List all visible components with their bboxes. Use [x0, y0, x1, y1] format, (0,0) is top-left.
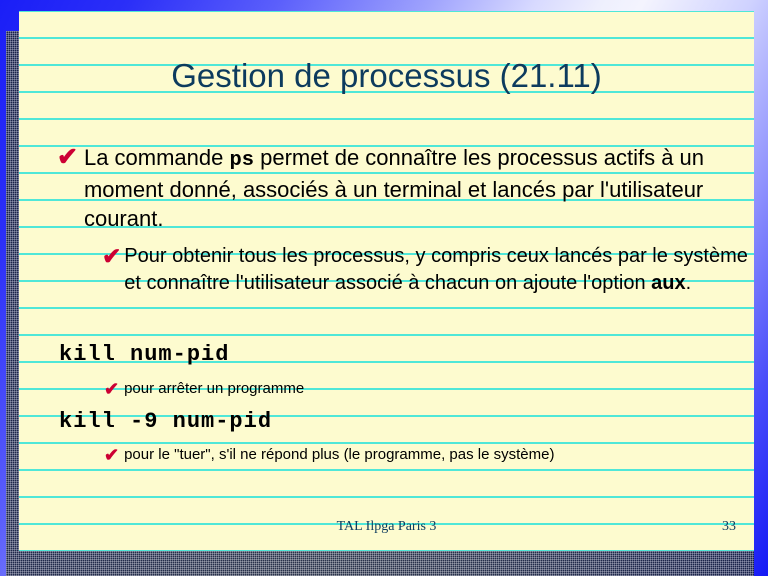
bullet-text-segment: . — [686, 272, 692, 294]
bullet-item-level-1-text: La commande ps permet de connaître les p… — [84, 143, 747, 233]
command-note-kill-9-text: pour le "tuer", s'il ne répond plus (le … — [124, 445, 554, 465]
check-mark-icon: ✔ — [104, 446, 119, 464]
bullet-item-level-1: ✔ La commande ps permet de connaître les… — [57, 143, 747, 233]
check-mark-icon: ✔ — [102, 245, 121, 268]
command-line-kill: kill num-pid — [59, 342, 229, 367]
command-note-kill-text: pour arrêter un programme — [124, 379, 304, 399]
inline-option-aux: aux — [651, 272, 685, 294]
bullet-item-level-2: ✔ Pour obtenir tous les processus, y com… — [102, 243, 752, 297]
bullet-text-segment: La commande — [84, 145, 230, 170]
inline-command-ps: ps — [229, 149, 254, 172]
check-mark-icon: ✔ — [57, 145, 78, 170]
check-mark-icon: ✔ — [104, 380, 119, 398]
slide-content: Gestion de processus (21.11) ✔ La comman… — [19, 11, 754, 551]
command-line-kill-9: kill -9 num-pid — [59, 409, 272, 434]
slide-page-number: 33 — [722, 519, 736, 535]
slide-footer: TAL Ilpga Paris 3 — [19, 519, 754, 535]
command-note-kill: ✔ pour arrêter un programme — [104, 379, 724, 399]
page-title: Gestion de processus (21.11) — [19, 57, 754, 95]
command-note-kill-9: ✔ pour le "tuer", s'il ne répond plus (l… — [104, 445, 744, 465]
bullet-item-level-2-text: Pour obtenir tous les processus, y compr… — [124, 243, 752, 297]
presentation-slide: Gestion de processus (21.11) ✔ La comman… — [19, 11, 754, 551]
